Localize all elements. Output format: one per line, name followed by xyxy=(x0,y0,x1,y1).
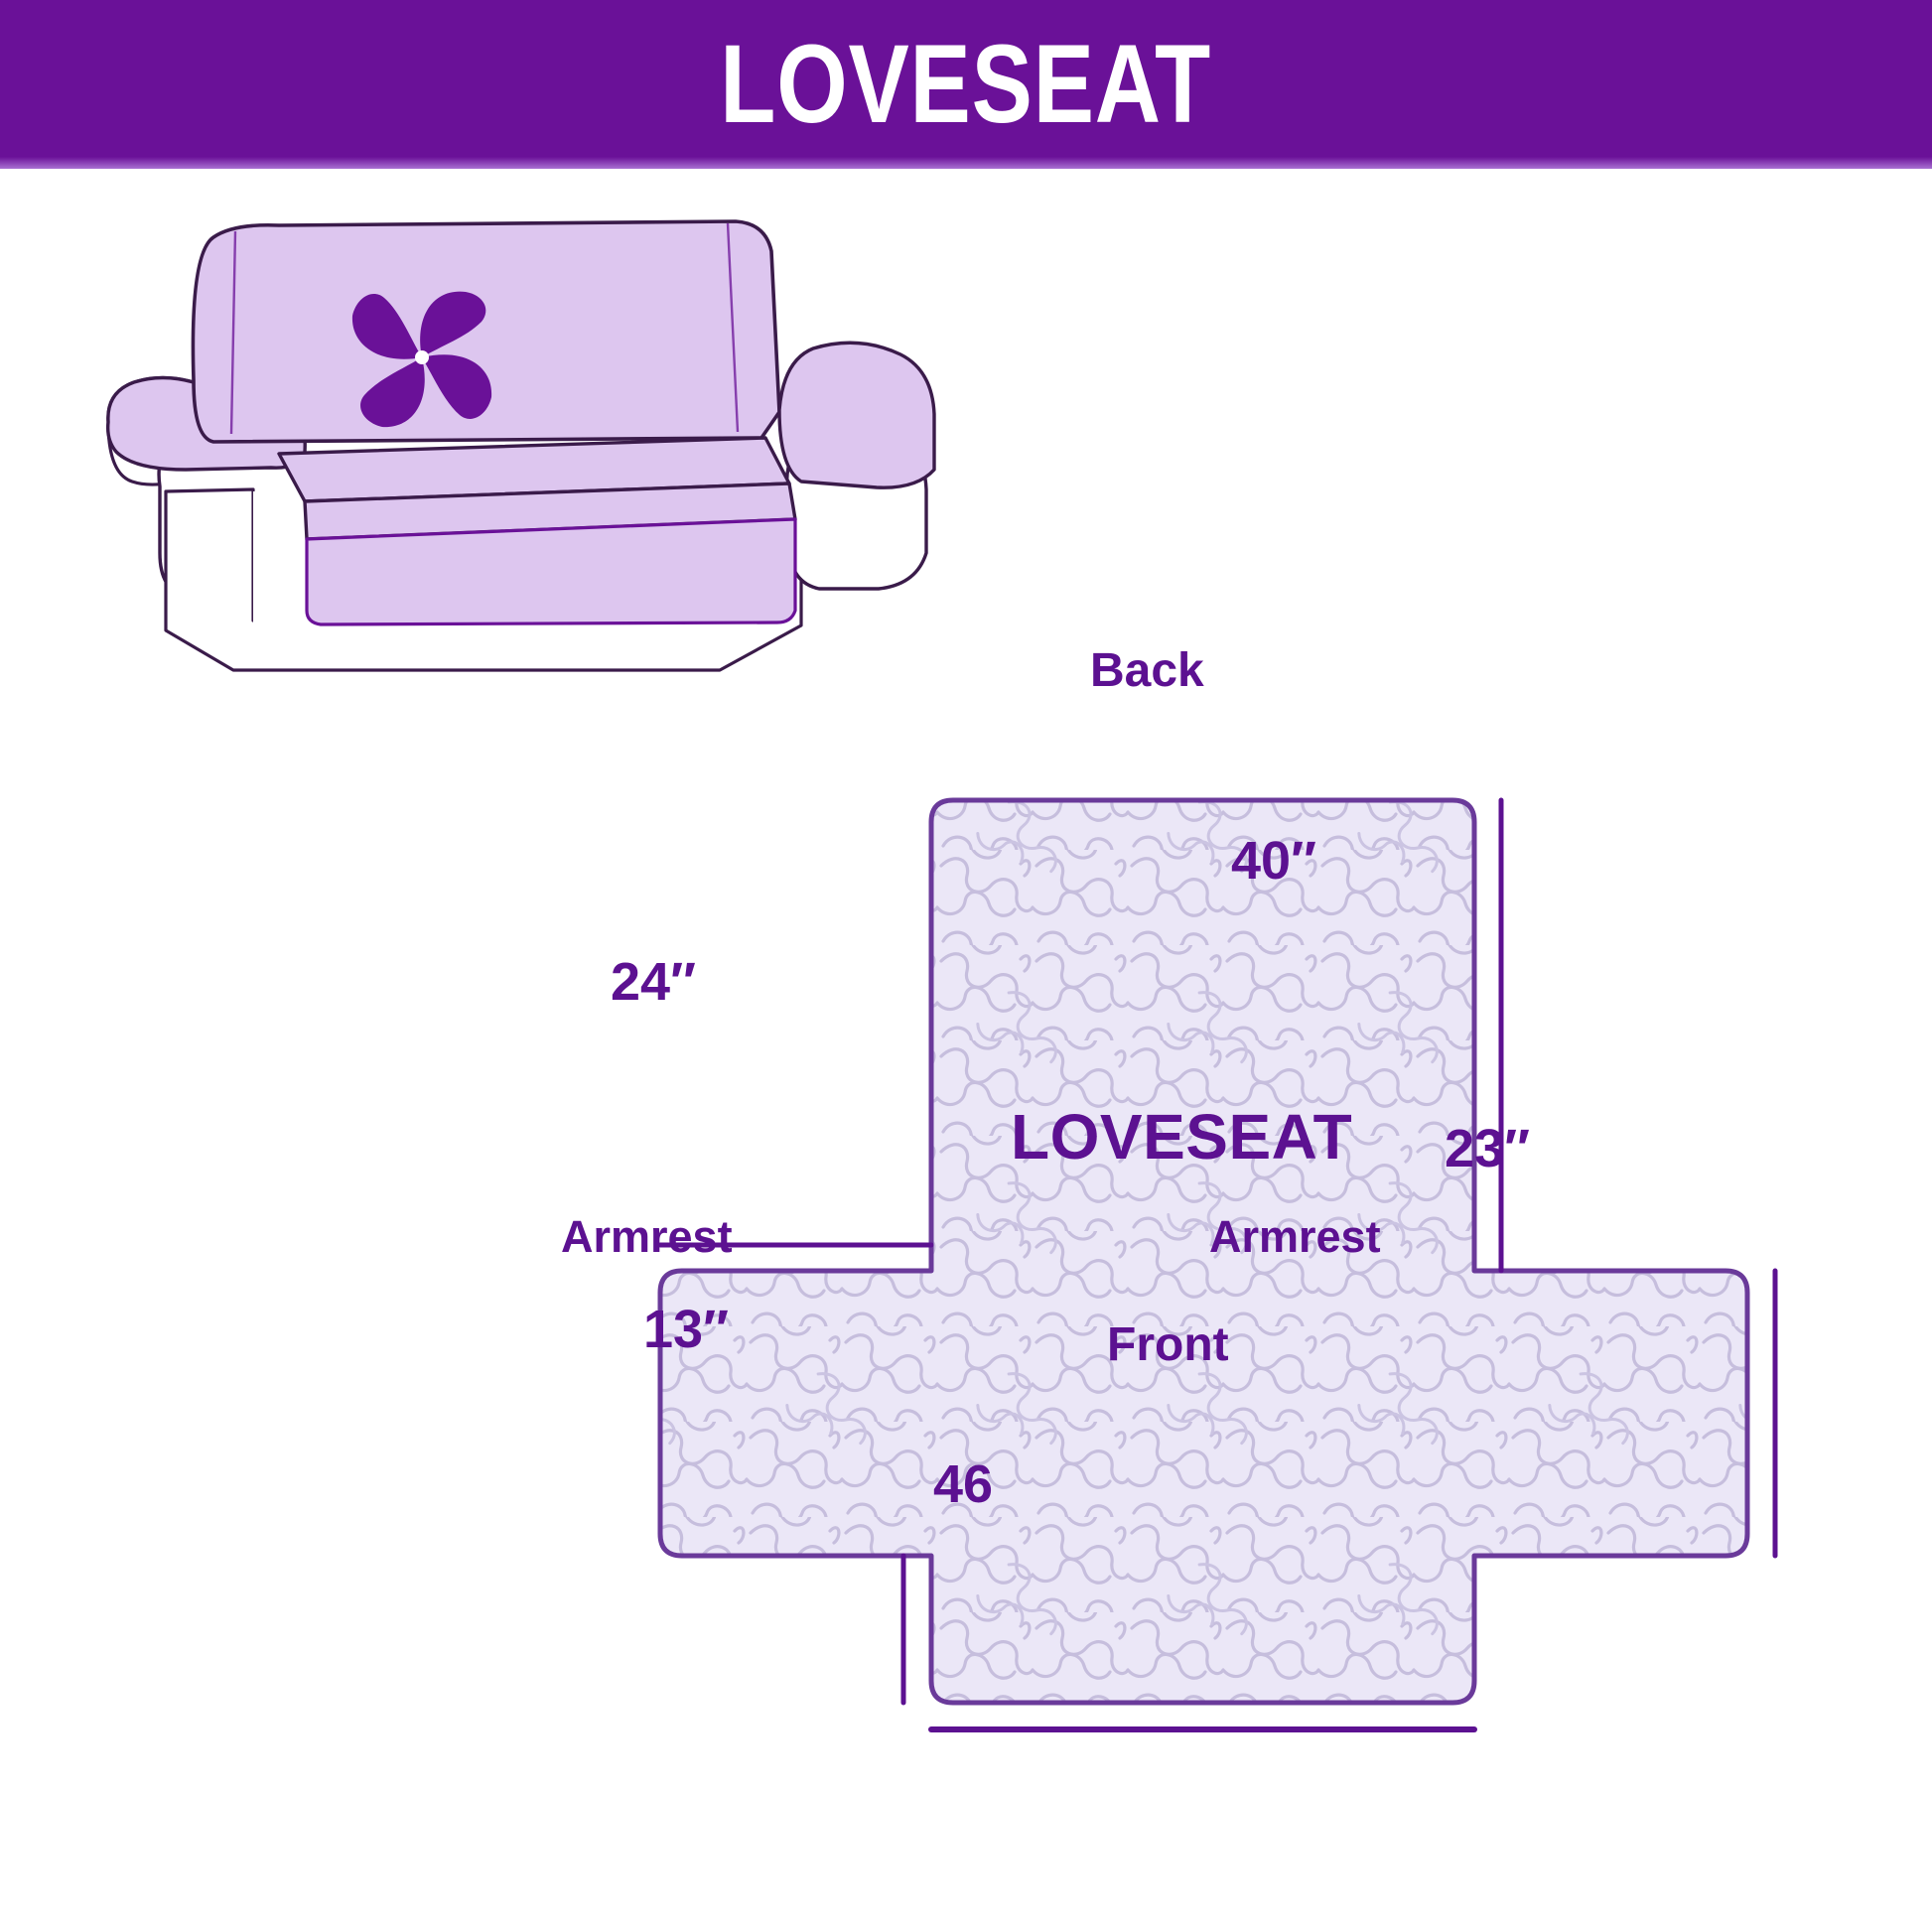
panel-label-armrest-left: Armrest xyxy=(561,1214,733,1259)
loveseat-illustration xyxy=(94,204,958,700)
panel-label-front: Front xyxy=(1107,1321,1229,1369)
sofa-front-skirt-cover xyxy=(307,519,795,624)
dimension-label-back-offset-left: 24″ xyxy=(611,955,696,1009)
header-banner-shadow xyxy=(0,157,1932,169)
header-banner: LOVESEAT xyxy=(0,0,1932,169)
panel-label-center: LOVESEAT xyxy=(1011,1105,1352,1169)
dimension-label-back-height: 40″ xyxy=(1231,834,1316,888)
cross-cover-outline xyxy=(660,800,1747,1703)
page-title: LOVESEAT xyxy=(721,29,1212,140)
dimension-label-front-height: 13″ xyxy=(643,1303,729,1356)
cover-pattern-diagram xyxy=(556,755,1932,1847)
panel-label-back: Back xyxy=(1090,647,1204,695)
dimension-label-armrest-height: 23″ xyxy=(1445,1122,1530,1175)
sofa-right-arm-cover xyxy=(779,343,934,487)
panel-label-armrest-right: Armrest xyxy=(1209,1214,1381,1259)
dimension-label-front-width: 46 xyxy=(933,1457,993,1511)
